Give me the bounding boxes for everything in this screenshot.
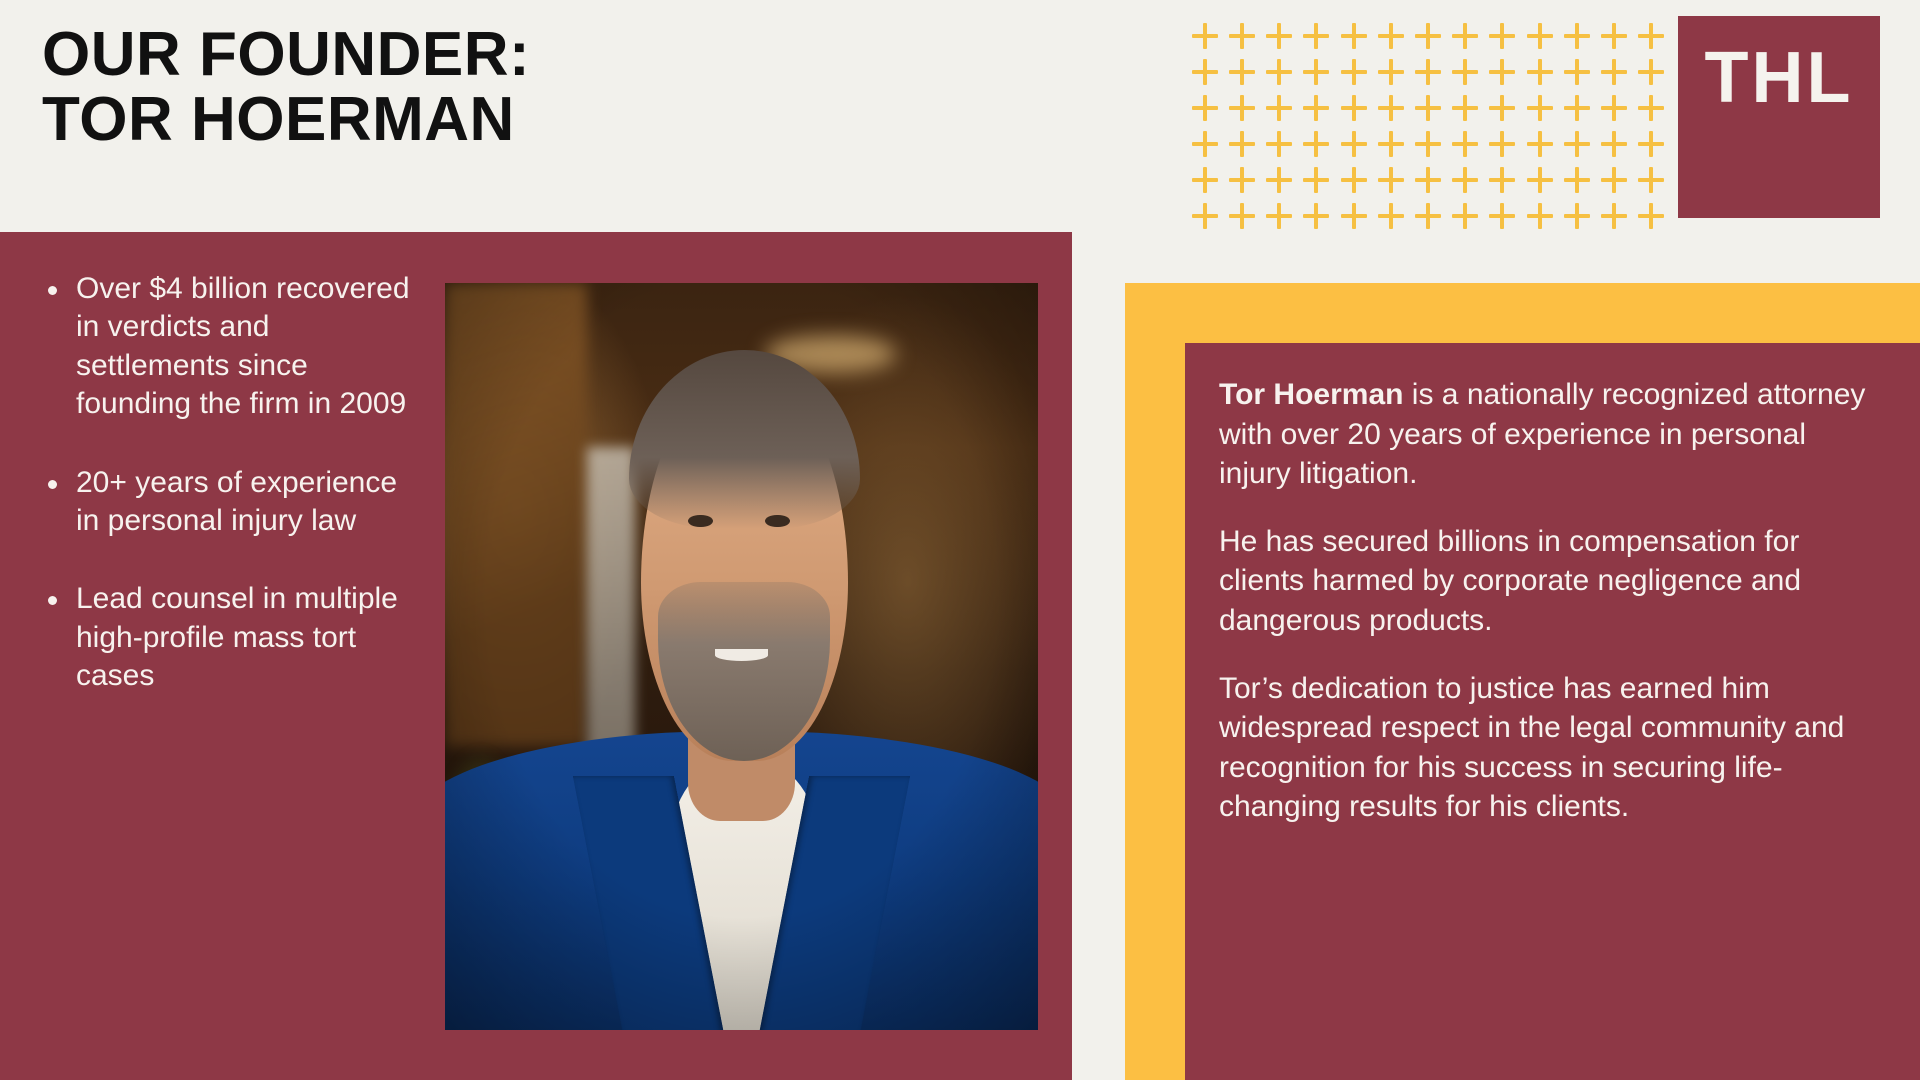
plus-icon [1452, 95, 1478, 121]
plus-icon [1192, 167, 1218, 193]
plus-icon [1564, 59, 1590, 85]
plus-icon [1638, 167, 1664, 193]
plus-icon [1229, 23, 1255, 49]
plus-icon [1527, 203, 1553, 229]
plus-icon [1489, 95, 1515, 121]
plus-icon [1341, 95, 1367, 121]
plus-icon [1303, 203, 1329, 229]
plus-icon [1601, 59, 1627, 85]
plus-icon [1638, 131, 1664, 157]
plus-icon [1192, 131, 1218, 157]
plus-icon [1527, 59, 1553, 85]
plus-icon [1601, 131, 1627, 157]
plus-icon [1601, 95, 1627, 121]
highlights-list: Over $4 billion recovered in verdicts an… [40, 270, 410, 696]
plus-icon [1415, 59, 1441, 85]
plus-icon [1229, 95, 1255, 121]
plus-icon [1378, 131, 1404, 157]
thl-logo: THL [1678, 16, 1880, 218]
plus-icon [1415, 167, 1441, 193]
plus-icon [1527, 167, 1553, 193]
plus-icon [1415, 23, 1441, 49]
plus-icon [1341, 131, 1367, 157]
plus-icon [1378, 167, 1404, 193]
plus-icon [1303, 167, 1329, 193]
plus-icon [1489, 203, 1515, 229]
plus-icon [1303, 95, 1329, 121]
plus-icon [1341, 59, 1367, 85]
plus-icon [1489, 59, 1515, 85]
plus-icon [1266, 95, 1292, 121]
plus-icon [1527, 95, 1553, 121]
plus-icon [1489, 131, 1515, 157]
plus-icon [1192, 59, 1218, 85]
plus-icon [1527, 131, 1553, 157]
photo-vignette [445, 283, 1038, 1030]
plus-icon [1192, 23, 1218, 49]
thl-logo-text: THL [1705, 42, 1854, 114]
plus-icon [1378, 23, 1404, 49]
plus-icon [1192, 203, 1218, 229]
plus-icon [1564, 203, 1590, 229]
founder-photo [445, 283, 1038, 1030]
highlight-item: 20+ years of experience in personal inju… [40, 464, 410, 541]
plus-icon [1266, 203, 1292, 229]
plus-icon [1452, 59, 1478, 85]
bio-paragraph: Tor Hoerman is a nationally recognized a… [1219, 375, 1886, 494]
plus-icon [1266, 59, 1292, 85]
plus-icon [1638, 59, 1664, 85]
plus-icon [1452, 203, 1478, 229]
bio-paragraph-text: Tor’s dedication to justice has earned h… [1219, 672, 1844, 824]
plus-icon [1303, 23, 1329, 49]
plus-icon [1266, 167, 1292, 193]
highlight-item: Lead counsel in multiple high-profile ma… [40, 580, 410, 695]
plus-icon [1564, 95, 1590, 121]
plus-icon [1601, 167, 1627, 193]
plus-icon [1527, 23, 1553, 49]
plus-icon [1415, 131, 1441, 157]
plus-icon [1378, 95, 1404, 121]
plus-icon [1638, 23, 1664, 49]
plus-icon [1341, 203, 1367, 229]
bio-paragraph: He has secured billions in compensation … [1219, 522, 1886, 641]
plus-icon [1452, 167, 1478, 193]
plus-icon [1266, 23, 1292, 49]
infographic-canvas: OUR FOUNDER: TOR HOERMAN THL Over $4 bil… [0, 0, 1920, 1080]
plus-icon [1303, 59, 1329, 85]
plus-icon [1601, 23, 1627, 49]
bio-card: Tor Hoerman is a nationally recognized a… [1185, 343, 1920, 1080]
plus-icon [1378, 59, 1404, 85]
plus-icon [1341, 23, 1367, 49]
plus-icon [1415, 95, 1441, 121]
plus-icon [1564, 131, 1590, 157]
plus-icon [1229, 203, 1255, 229]
plus-icon [1229, 131, 1255, 157]
bio-paragraph: Tor’s dedication to justice has earned h… [1219, 669, 1886, 827]
founder-name: Tor Hoerman [1219, 378, 1403, 411]
bio-paragraph-text: He has secured billions in compensation … [1219, 525, 1801, 637]
highlight-item: Over $4 billion recovered in verdicts an… [40, 270, 410, 424]
founder-photo-image [445, 283, 1038, 1030]
plus-pattern-decoration [1186, 18, 1670, 234]
page-title: OUR FOUNDER: TOR HOERMAN [42, 22, 942, 152]
plus-icon [1452, 131, 1478, 157]
plus-icon [1192, 95, 1218, 121]
plus-icon [1415, 203, 1441, 229]
plus-icon [1638, 203, 1664, 229]
plus-icon [1452, 23, 1478, 49]
plus-icon [1564, 23, 1590, 49]
plus-icon [1601, 203, 1627, 229]
plus-icon [1564, 167, 1590, 193]
plus-icon [1229, 59, 1255, 85]
plus-icon [1378, 203, 1404, 229]
plus-icon [1303, 131, 1329, 157]
plus-icon [1489, 23, 1515, 49]
plus-icon [1229, 167, 1255, 193]
plus-icon [1341, 167, 1367, 193]
plus-icon [1638, 95, 1664, 121]
plus-icon [1489, 167, 1515, 193]
plus-icon [1266, 131, 1292, 157]
